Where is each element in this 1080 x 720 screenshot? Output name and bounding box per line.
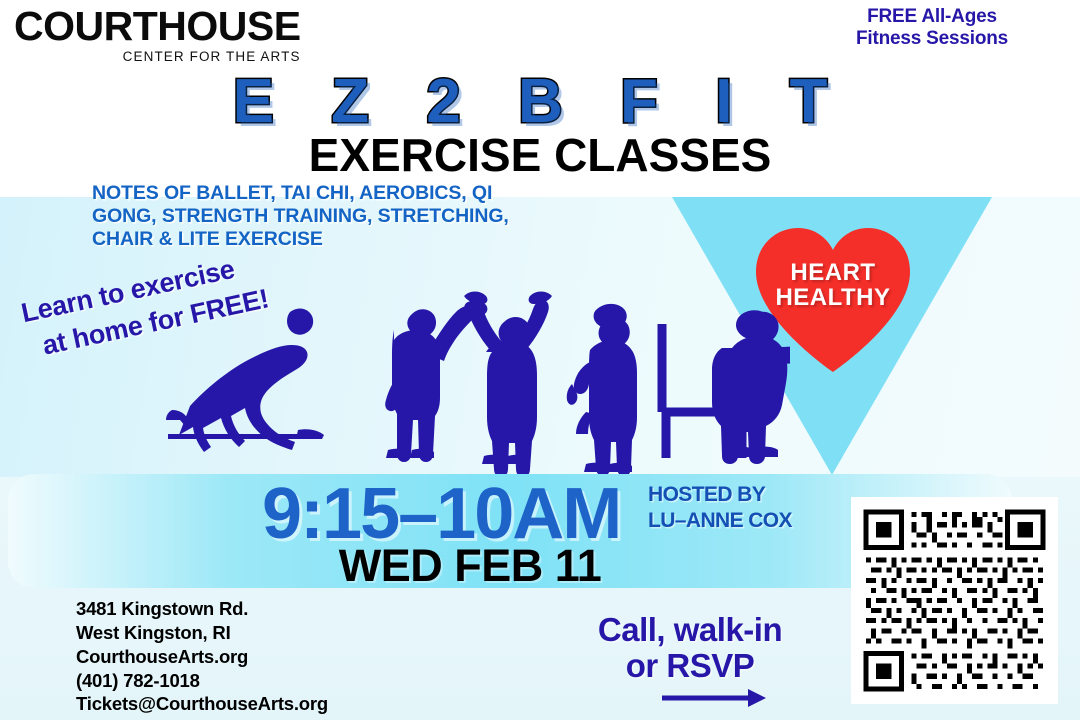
exercise-figure-illustrations <box>150 270 790 480</box>
qr-code-svg[interactable] <box>851 497 1058 704</box>
contact-phone[interactable]: (401) 782-1018 <box>76 669 328 693</box>
contact-website[interactable]: CourthouseArts.org <box>76 645 328 669</box>
contact-address-line2: West Kingston, RI <box>76 621 328 645</box>
logo-tagline: CENTER FOR THE ARTS <box>14 49 301 64</box>
cta-text: Call, walk-in or RSVP <box>545 612 835 683</box>
cta-line2: or RSVP <box>545 648 835 684</box>
class-date: WED FEB 11 <box>0 540 940 592</box>
page-title: E Z 2 B F I T <box>0 66 1080 137</box>
figure-overhead-stretch <box>464 292 552 478</box>
figure-chair-squat <box>662 310 790 464</box>
class-notes-text: NOTES OF BALLET, TAI CHI, AEROBICS, QI G… <box>92 182 562 251</box>
free-all-ages-note: FREE All-Ages Fitness Sessions <box>856 6 1008 50</box>
cta-line1: Call, walk-in <box>545 612 835 648</box>
contact-info: 3481 Kingstown Rd. West Kingston, RI Cou… <box>76 597 328 716</box>
logo-wordmark: COURTHOUSE <box>14 6 301 47</box>
host-name: LU–ANNE COX <box>648 508 792 534</box>
page-subtitle: EXERCISE CLASSES <box>0 128 1080 182</box>
host-info: HOSTED BY LU–ANNE COX <box>648 482 792 535</box>
figures-svg <box>150 270 790 480</box>
contact-address-line1: 3481 Kingstown Rd. <box>76 597 328 621</box>
hosted-by-label: HOSTED BY <box>648 482 792 508</box>
free-all-ages-line1: FREE All-Ages <box>856 6 1008 28</box>
free-all-ages-line2: Fitness Sessions <box>856 28 1008 50</box>
contact-email[interactable]: Tickets@CourthouseArts.org <box>76 692 328 716</box>
figure-side-stretch <box>385 300 487 462</box>
figure-sprinter-start <box>166 309 324 452</box>
poster-canvas: COURTHOUSE CENTER FOR THE ARTS FREE All-… <box>0 0 1080 720</box>
qr-code[interactable] <box>851 497 1058 704</box>
figure-quad-stretch <box>567 304 637 476</box>
courthouse-logo: COURTHOUSE CENTER FOR THE ARTS <box>14 6 301 64</box>
arrow-right-icon <box>660 686 770 712</box>
